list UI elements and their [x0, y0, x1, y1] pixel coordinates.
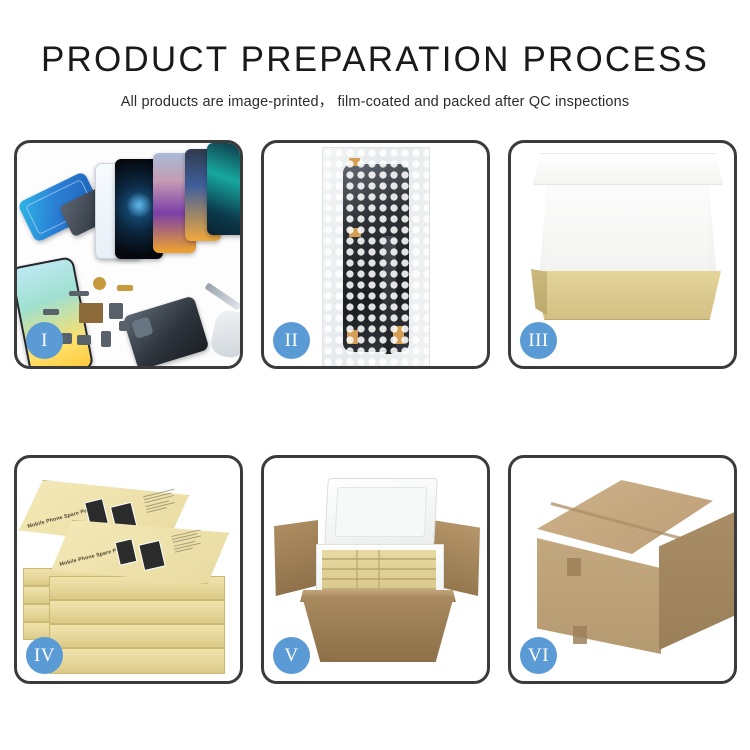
foam-sheet	[545, 189, 709, 281]
carton-front-panel	[302, 596, 454, 662]
box-side-panel	[531, 269, 547, 315]
carton-tab-lower	[573, 626, 587, 644]
part-sim-tray	[101, 331, 111, 347]
part-cable	[43, 309, 59, 315]
step-card-3: III	[508, 140, 737, 369]
inner-boxes-stack	[322, 550, 436, 596]
step-card-4: Mobile Phone Spare Parts Mobile Phone Sp…	[14, 455, 243, 684]
header: PRODUCT PREPARATION PROCESS All products…	[0, 0, 750, 111]
step-badge-2: II	[273, 322, 310, 359]
teal-gradient-phone	[207, 143, 240, 235]
stacked-box-r4	[49, 648, 225, 674]
box-lid-edge	[533, 153, 723, 185]
part-flex-gold	[117, 285, 133, 291]
step-badge-6: VI	[520, 637, 557, 674]
foam-lid	[324, 478, 438, 546]
part-speaker	[93, 277, 106, 290]
step-card-5: V	[261, 455, 490, 684]
page-subtitle: All products are image-printed， film-coa…	[0, 90, 750, 111]
stacked-box-r3	[49, 624, 225, 648]
step-card-6: VI	[508, 455, 737, 684]
part-connector	[69, 291, 89, 296]
bubble-texture	[323, 148, 429, 366]
part-bracket	[77, 335, 91, 345]
step-badge-3: III	[520, 322, 557, 359]
carton-tab-upper	[567, 558, 581, 576]
step-badge-5: V	[273, 637, 310, 674]
part-chip-array	[79, 303, 103, 323]
hand-holding-part	[209, 308, 240, 360]
carton-flap-left	[274, 520, 318, 596]
carton-right-face	[659, 510, 734, 650]
part-screw-plate	[119, 321, 129, 331]
step-badge-4: IV	[26, 637, 63, 674]
step-badge-1: I	[26, 322, 63, 359]
bubble-wrap-bag	[322, 147, 430, 366]
product-preparation-infographic: PRODUCT PREPARATION PROCESS All products…	[0, 0, 750, 750]
tweezers-icon	[204, 282, 240, 310]
step-card-2: II	[261, 140, 490, 369]
step-card-1: I	[14, 140, 243, 369]
page-title: PRODUCT PREPARATION PROCESS	[0, 42, 750, 77]
process-step-grid: I II	[14, 140, 736, 684]
stacked-box-r2	[49, 600, 225, 624]
disassembled-phone-back	[122, 295, 209, 366]
box-front-panel	[533, 271, 721, 320]
carton-left-face	[537, 538, 661, 654]
part-module	[109, 303, 123, 319]
